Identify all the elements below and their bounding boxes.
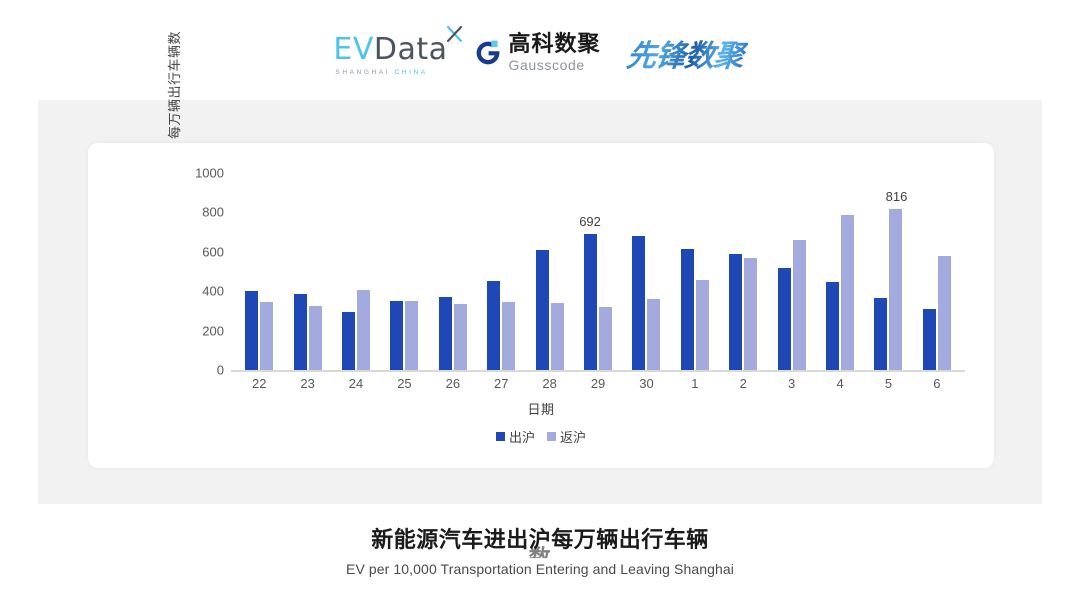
bar-groups: 692816 [235,173,961,370]
x-axis-tick-label: 28 [525,376,573,391]
y-axis-tick-label: 1000 [195,166,224,181]
gausscode-text: 高科数聚 Gausscode [509,34,601,72]
evdata-ev-text: EV [333,32,373,67]
page-title-text: 新能源汽车进出沪每万辆出行车辆 [371,528,709,553]
bar-返沪-30[interactable] [647,299,660,370]
bar-返沪-23[interactable] [309,306,322,370]
bar-出沪-3[interactable] [778,268,791,370]
y-axis-tick-label: 0 [217,363,224,378]
page-subtitle: EV per 10,000 Transportation Entering an… [0,561,1080,577]
bar-出沪-6[interactable] [923,309,936,370]
x-axis-tick-label: 23 [283,376,331,391]
bar-返沪-28[interactable] [551,303,564,370]
bar-返沪-26[interactable] [454,304,467,370]
bar-group [671,173,719,370]
bar-出沪-24[interactable] [342,312,355,370]
legend-swatch [547,432,556,441]
y-axis-tick-label: 400 [202,284,224,299]
x-axis-tick-label: 25 [380,376,428,391]
bar-返沪-25[interactable] [405,301,418,370]
bar-出沪-29[interactable] [584,234,597,370]
legend-swatch [496,432,505,441]
bar-出沪-26[interactable] [439,297,452,370]
bar-group [525,173,573,370]
bar-group: 816 [864,173,912,370]
evdata-tagline: SHANGHAI CHINA [335,69,427,76]
bar-返沪-22[interactable] [260,302,273,370]
bar-出沪-1[interactable] [681,249,694,370]
caption-block: 新能源汽车进出沪每万辆出行车辆 数 EV per 10,000 Transpor… [0,528,1080,577]
bar-出沪-2[interactable] [729,254,742,370]
evdata-tagline-china: CHINA [395,69,428,76]
evdata-logo: EVData SHANGHAI CHINA [333,31,447,76]
y-axis-ticks: 02004006008001000 [176,143,224,468]
x-axis-tick-label: 26 [429,376,477,391]
evdata-wordmark: EVData [333,35,447,65]
x-axis-line [231,370,965,372]
bar-group [816,173,864,370]
bar-返沪-2[interactable] [744,258,757,370]
x-axis-title: 日期 [88,399,994,418]
chart-card: 每万辆出行车辆数 02004006008001000 692816 222324… [88,143,994,468]
x-axis-tick-label: 24 [332,376,380,391]
plot-area: 692816 [235,173,961,370]
bar-group: 692 [574,173,622,370]
bar-出沪-28[interactable] [536,250,549,370]
x-axis-tick-label: 6 [913,376,961,391]
x-axis-tick-label: 5 [864,376,912,391]
bar-返沪-6[interactable] [938,256,951,370]
gausscode-en: Gausscode [509,58,601,72]
logo-bar: EVData SHANGHAI CHINA 高科数聚 Gausscode 先锋数… [0,22,1080,84]
evdata-data-text: Data [374,32,448,67]
legend-label: 出沪 [509,427,535,446]
x-axis-tick-label: 4 [816,376,864,391]
g-circle-icon [474,39,502,67]
bar-出沪-30[interactable] [632,236,645,370]
x-axis-tick-label: 30 [622,376,670,391]
xianfeng-logo: 先锋数聚 [624,31,749,75]
bar-group [332,173,380,370]
x-axis-tick-label: 3 [767,376,815,391]
bar-group [283,173,331,370]
bar-返沪-5[interactable] [889,209,902,370]
bar-出沪-22[interactable] [245,291,258,370]
x-axis-tick-label: 29 [574,376,622,391]
x-axis-tick-label: 1 [671,376,719,391]
x-axis-tick-label: 22 [235,376,283,391]
bar-出沪-23[interactable] [294,294,307,370]
bar-group [380,173,428,370]
gausscode-cn: 高科数聚 [509,34,601,56]
bar-group [719,173,767,370]
bar-出沪-5[interactable] [874,298,887,370]
bar-返沪-24[interactable] [357,290,370,370]
bar-返沪-27[interactable] [502,302,515,370]
page-title: 新能源汽车进出沪每万辆出行车辆 数 [0,528,1080,553]
bar-group [622,173,670,370]
bar-返沪-1[interactable] [696,280,709,370]
bar-group [767,173,815,370]
chart-legend: 出沪返沪 [88,427,994,446]
x-axis-tick-labels: 222324252627282930123456 [235,376,961,391]
bar-返沪-4[interactable] [841,215,854,370]
bar-返沪-3[interactable] [793,240,806,370]
y-axis-tick-label: 600 [202,244,224,259]
bar-chart: 每万辆出行车辆数 02004006008001000 692816 222324… [88,143,994,468]
y-axis-tick-label: 200 [202,323,224,338]
legend-item-出沪[interactable]: 出沪 [496,427,535,446]
bar-出沪-4[interactable] [826,282,839,370]
bar-group [429,173,477,370]
bar-group [235,173,283,370]
bar-返沪-29[interactable] [599,307,612,370]
bar-value-label: 692 [579,214,601,229]
x-axis-tick-label: 27 [477,376,525,391]
gausscode-logo: 高科数聚 Gausscode [474,34,601,72]
legend-item-返沪[interactable]: 返沪 [547,427,586,446]
bar-出沪-27[interactable] [487,281,500,370]
x-axis-tick-label: 2 [719,376,767,391]
x-spark-icon [445,24,465,44]
evdata-tagline-shanghai: SHANGHAI [335,69,390,76]
bar-group [477,173,525,370]
bar-出沪-25[interactable] [390,301,403,370]
bar-value-label: 816 [886,189,908,204]
bar-group [913,173,961,370]
y-axis-tick-label: 800 [202,205,224,220]
legend-label: 返沪 [560,427,586,446]
